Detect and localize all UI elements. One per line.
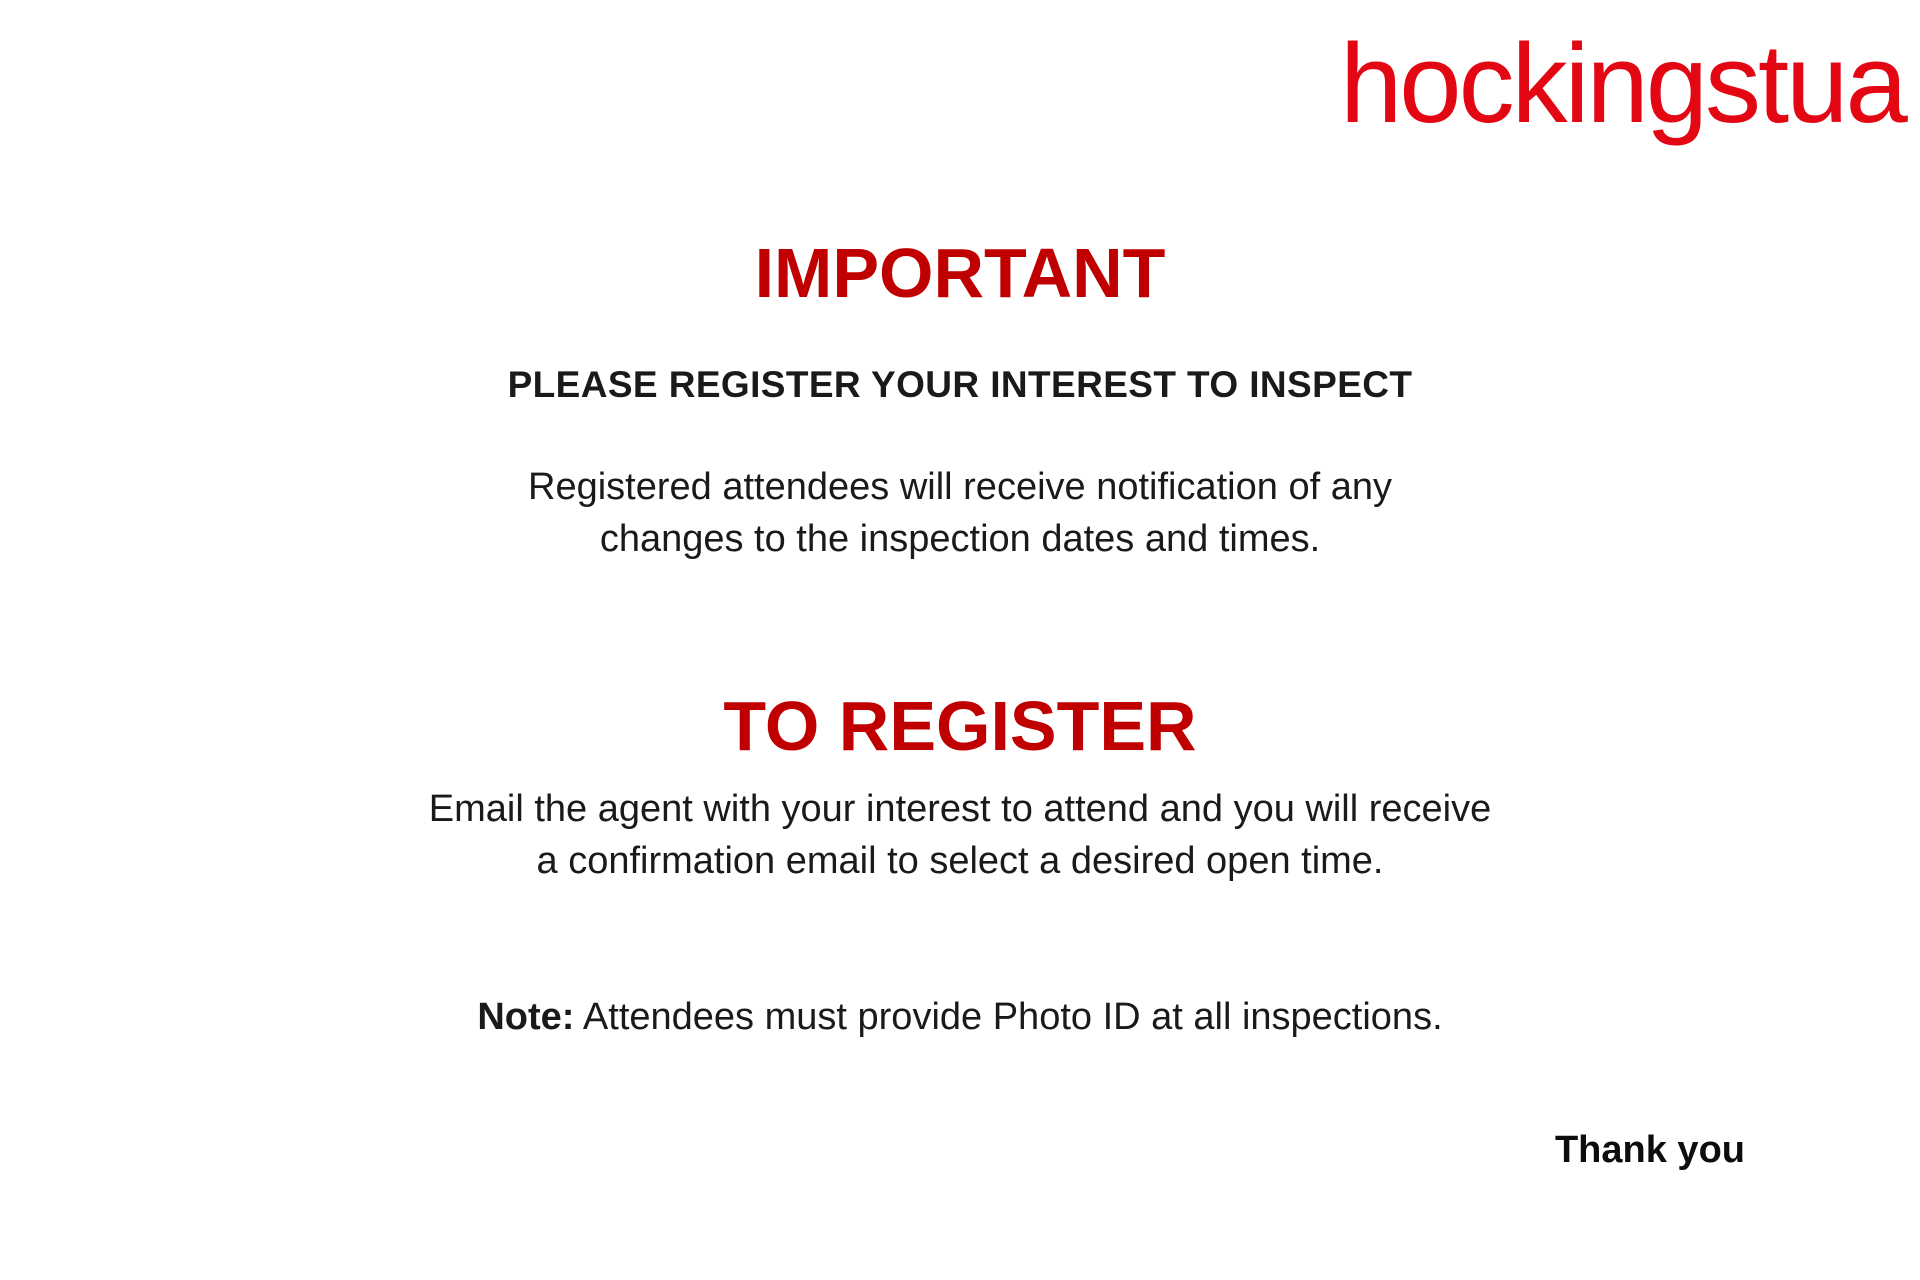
- note-text: Attendees must provide Photo ID at all i…: [574, 996, 1442, 1038]
- paragraph-register-instructions: Email the agent with your interest to at…: [0, 783, 1920, 887]
- paragraph-notification-line-1: Registered attendees will receive notifi…: [0, 461, 1920, 513]
- notice-slide: hockingstua IMPORTANT PLEASE REGISTER YO…: [0, 0, 1920, 1280]
- paragraph-register-line-1: Email the agent with your interest to at…: [0, 783, 1920, 835]
- section-title-to-register: TO REGISTER: [0, 690, 1920, 764]
- paragraph-notification-line-2: changes to the inspection dates and time…: [0, 513, 1920, 565]
- note-label: Note:: [477, 996, 574, 1038]
- paragraph-notification: Registered attendees will receive notifi…: [0, 461, 1920, 565]
- thank-you-footer: Thank you: [0, 1128, 1745, 1174]
- subheading-register-interest: PLEASE REGISTER YOUR INTEREST TO INSPECT: [0, 364, 1920, 406]
- note-photo-id: Note: Attendees must provide Photo ID at…: [0, 991, 1920, 1043]
- hockingstuart-logo: hockingstua: [1340, 28, 1920, 140]
- page-title-important: IMPORTANT: [0, 237, 1920, 311]
- paragraph-register-line-2: a confirmation email to select a desired…: [0, 835, 1920, 887]
